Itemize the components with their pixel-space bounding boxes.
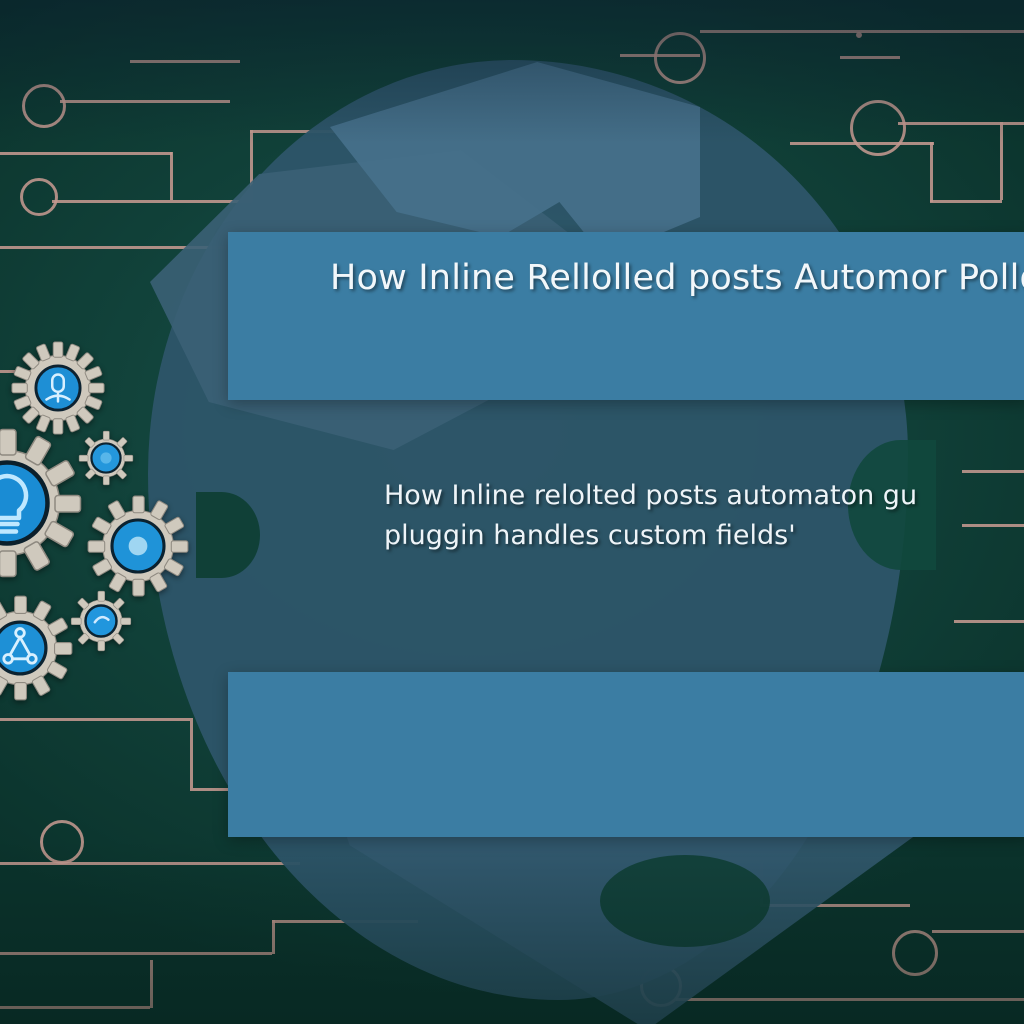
circuit-trace xyxy=(170,152,173,200)
circuit-trace xyxy=(930,142,933,202)
circuit-pad xyxy=(892,930,938,976)
circuit-trace xyxy=(954,620,1024,623)
circuit-trace xyxy=(930,200,1002,203)
circuit-trace xyxy=(52,200,252,203)
page-title: How Inline Rellolled posts Automor Polld… xyxy=(330,258,1024,298)
bottom-banner xyxy=(228,672,1024,837)
body-text-block: How Inline relolted posts automaton gu p… xyxy=(384,476,1024,556)
gear-cog xyxy=(86,494,190,598)
gear-network xyxy=(0,594,74,702)
abstract-shape-notch-bottom xyxy=(600,855,770,947)
circuit-pad xyxy=(856,32,862,38)
circuit-trace xyxy=(130,60,240,63)
circuit-trace xyxy=(0,152,172,155)
circuit-pad xyxy=(22,84,66,128)
poster-canvas: How Inline Rellolled posts Automor Polld… xyxy=(0,0,1024,1024)
circuit-trace xyxy=(150,960,153,1008)
circuit-trace xyxy=(60,100,230,103)
circuit-pad xyxy=(850,100,906,156)
circuit-trace xyxy=(190,718,193,788)
circuit-trace xyxy=(700,30,1024,33)
body-line-1: How Inline relolted posts automaton gu xyxy=(384,476,1024,516)
circuit-trace xyxy=(840,56,900,59)
circuit-trace xyxy=(0,718,190,721)
gear-small-mid xyxy=(70,590,132,652)
circuit-trace xyxy=(0,1006,150,1009)
circuit-trace xyxy=(962,470,1024,473)
circuit-pad xyxy=(20,178,58,216)
gear-cluster xyxy=(0,336,190,682)
circuit-trace xyxy=(932,930,1024,933)
circuit-trace xyxy=(0,862,300,865)
cog-icon xyxy=(129,537,148,556)
circuit-trace xyxy=(1000,122,1003,200)
circuit-trace xyxy=(0,952,272,955)
gear-lightbulb xyxy=(0,428,82,578)
circuit-trace xyxy=(272,920,275,954)
dot-icon xyxy=(100,452,111,463)
circuit-pad xyxy=(654,32,706,84)
circuit-trace xyxy=(898,122,1024,125)
gear-lock xyxy=(10,340,106,436)
gear-small-top xyxy=(78,430,134,486)
circuit-pad xyxy=(40,820,84,864)
body-line-2: pluggin handles custom fields' xyxy=(384,516,1024,556)
circuit-trace xyxy=(676,998,1024,1001)
